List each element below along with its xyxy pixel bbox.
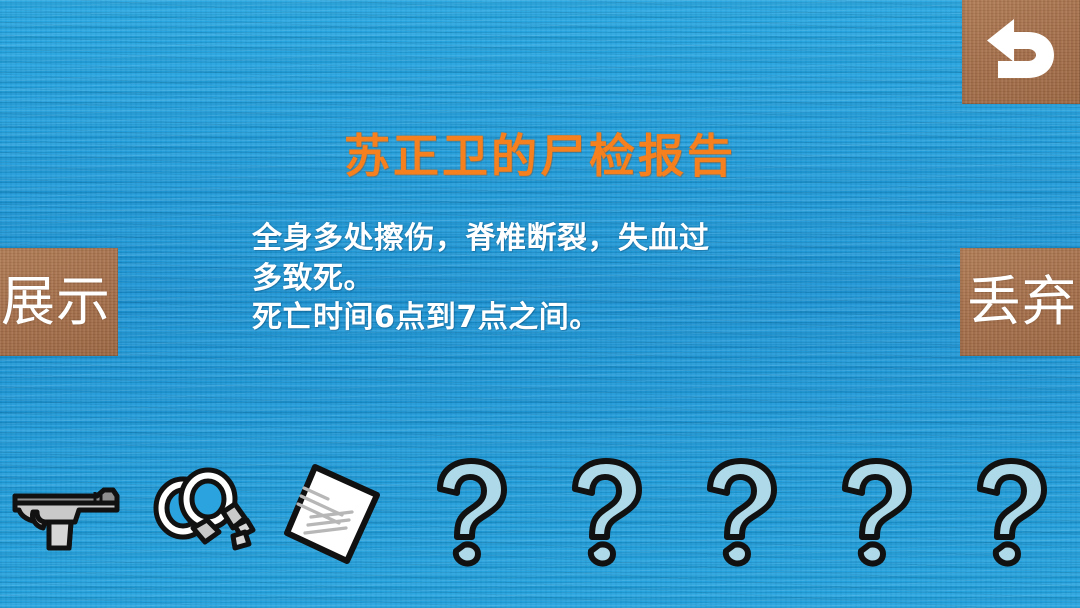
question-icon: [831, 459, 915, 567]
document-icon: [281, 461, 385, 565]
inventory-slot-pistol[interactable]: [0, 450, 135, 575]
inventory-bar: [0, 450, 1080, 575]
inventory-slot-document[interactable]: [265, 450, 400, 575]
show-button-label: 展示: [1, 275, 111, 329]
inventory-slot-handcuffs[interactable]: [135, 450, 270, 575]
inventory-slot-unknown-3[interactable]: [670, 450, 805, 575]
pistol-icon: [9, 470, 127, 556]
question-icon: [966, 459, 1050, 567]
inventory-slot-unknown-2[interactable]: [535, 450, 670, 575]
report-text: 全身多处擦伤，脊椎断裂，失血过 多致死。 死亡时间6点到7点之间。: [252, 219, 818, 338]
report-line-3: 死亡时间6点到7点之间。: [252, 298, 818, 338]
report-line-2: 多致死。: [252, 259, 818, 299]
question-icon: [561, 459, 645, 567]
game-screen: 苏正卫的尸检报告 全身多处擦伤，脊椎断裂，失血过 多致死。 死亡时间6点到7点之…: [0, 0, 1080, 608]
show-button[interactable]: 展示: [0, 248, 118, 356]
handcuffs-icon: [149, 466, 257, 560]
discard-button-label: 丢弃: [967, 275, 1077, 329]
question-icon: [696, 459, 780, 567]
back-arrow-icon: [984, 16, 1058, 82]
page-title: 苏正卫的尸检报告: [0, 120, 1080, 186]
question-icon: [426, 459, 510, 567]
inventory-slot-unknown-4[interactable]: [805, 450, 940, 575]
inventory-slot-unknown-1[interactable]: [400, 450, 535, 575]
back-button[interactable]: [962, 0, 1080, 104]
discard-button[interactable]: 丢弃: [960, 248, 1080, 356]
report-line-1: 全身多处擦伤，脊椎断裂，失血过: [252, 219, 818, 259]
inventory-slot-unknown-5[interactable]: [940, 450, 1075, 575]
